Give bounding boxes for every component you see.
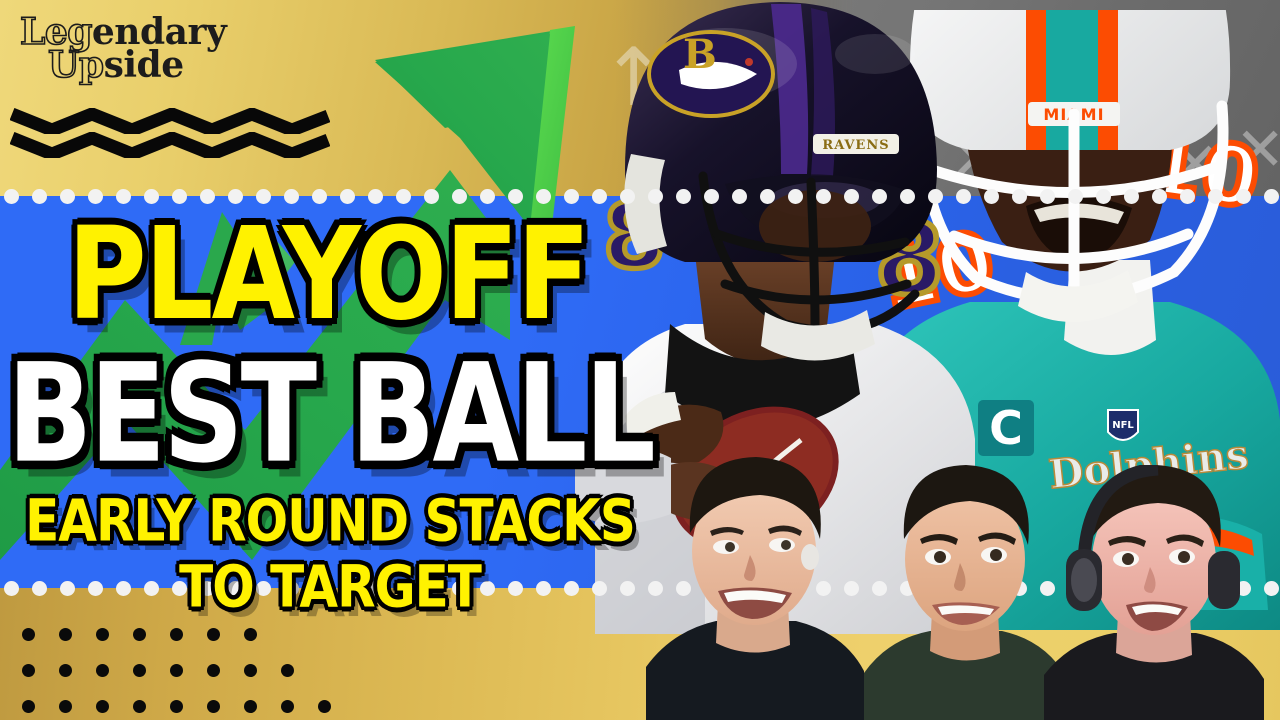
title-line-playoff: PLAYOFF — [0, 212, 660, 339]
zigzag-line-icon — [10, 132, 330, 158]
host-photo-left — [640, 455, 870, 720]
host-photo-right — [1040, 465, 1275, 720]
brand-logo-side: side — [104, 44, 184, 86]
brand-logo-line-2: Upside — [20, 49, 226, 82]
subtitle-line-2: TO TARGET — [0, 558, 660, 616]
title-block: PLAYOFF BEST BALL EARLY ROUND STACKS TO … — [0, 212, 660, 608]
svg-text:NFL: NFL — [1112, 420, 1134, 431]
svg-text:B: B — [683, 31, 717, 78]
brand-logo-up: Up — [48, 44, 104, 86]
svg-text:RAVENS: RAVENS — [822, 138, 889, 153]
title-line-best-ball: BEST BALL — [0, 346, 660, 483]
brand-logo[interactable]: Legendary Upside — [20, 16, 226, 82]
host-photo-center — [860, 465, 1070, 720]
zigzag-line-icon — [10, 108, 330, 134]
youtube-thumbnail: ✕ ✕ ✕ ✕ ✕ ✕ ✕ ✕ ✕ ↑ — [0, 0, 1280, 720]
subtitle-line-1: EARLY ROUND STACKS — [0, 492, 660, 550]
